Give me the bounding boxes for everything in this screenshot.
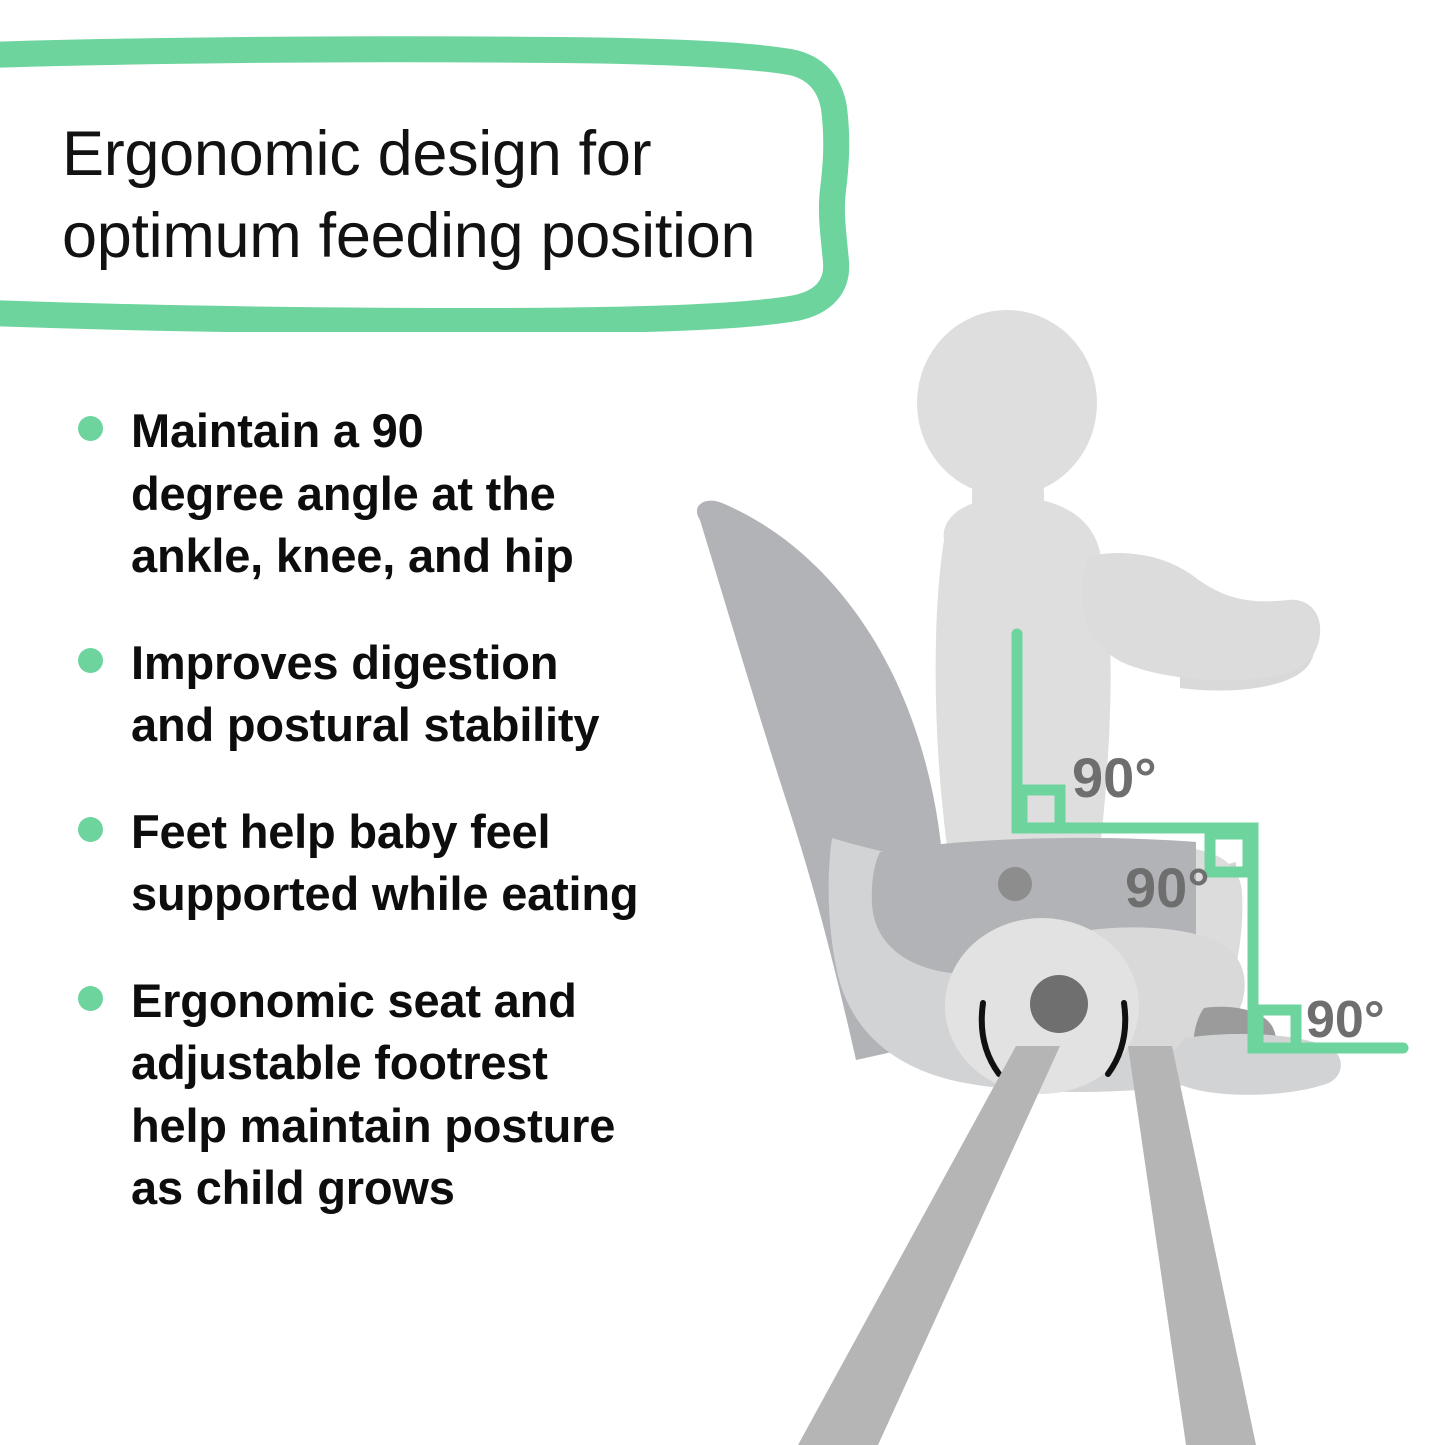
list-item-label: Feet help baby feel supported while eati… — [131, 801, 738, 926]
list-item-label: Ergonomic seat and adjustable footrest h… — [131, 970, 738, 1220]
baby-head — [917, 310, 1097, 496]
list-item: Improves digestion and postural stabilit… — [78, 632, 738, 757]
list-item: Ergonomic seat and adjustable footrest h… — [78, 970, 738, 1220]
list-item: Maintain a 90 degree angle at the ankle,… — [78, 400, 738, 588]
angle-label-hip: 90° — [1072, 746, 1157, 809]
chair-leg-right — [1128, 1046, 1256, 1445]
baby-arm — [1082, 553, 1320, 680]
angle-label-knee: 90° — [1125, 856, 1210, 919]
title-card: Ergonomic design for optimum feeding pos… — [0, 22, 880, 332]
chair-hub-bolt — [1030, 975, 1088, 1033]
benefits-list: Maintain a 90 degree angle at the ankle,… — [78, 400, 738, 1264]
list-item-label: Improves digestion and postural stabilit… — [131, 632, 738, 757]
bullet-dot-icon — [78, 416, 103, 441]
page-title: Ergonomic design for optimum feeding pos… — [62, 114, 832, 278]
list-item: Feet help baby feel supported while eati… — [78, 801, 738, 926]
bullet-dot-icon — [78, 648, 103, 673]
angle-label-ankle: 90° — [1306, 991, 1385, 1049]
infographic-canvas: 90° 90° 90° Ergonomic design for optimum… — [0, 0, 1445, 1445]
seat-fastener-dot — [998, 867, 1032, 901]
list-item-label: Maintain a 90 degree angle at the ankle,… — [131, 400, 738, 588]
chair-leg-left — [798, 1046, 1060, 1445]
bullet-dot-icon — [78, 986, 103, 1011]
bullet-dot-icon — [78, 817, 103, 842]
